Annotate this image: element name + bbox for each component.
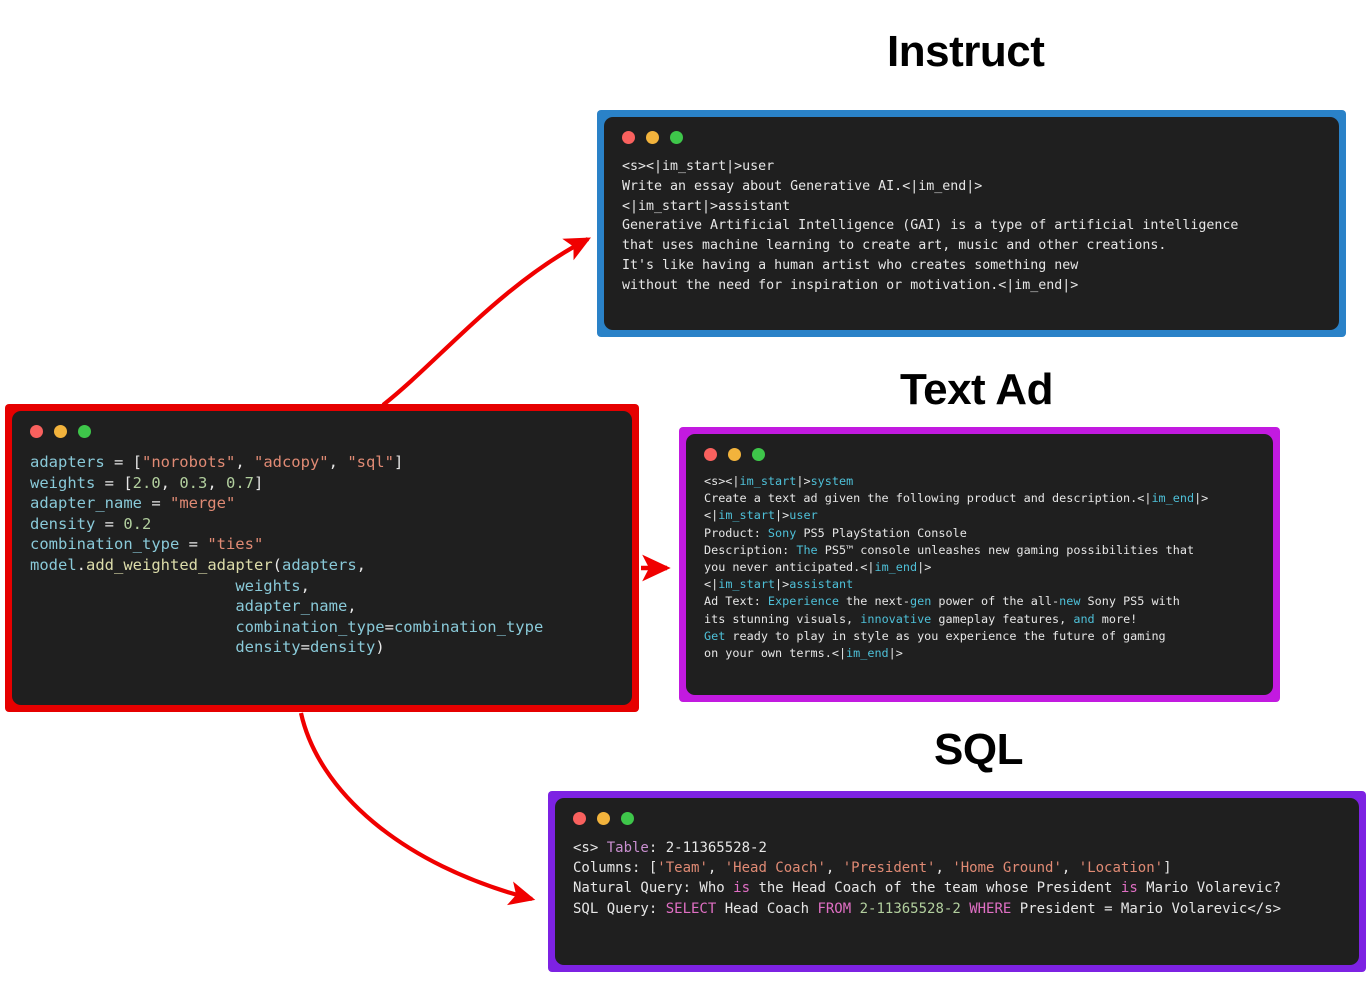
code-token: and — [1073, 612, 1094, 626]
code-line: <s><|im_start|>system — [704, 473, 1255, 490]
code-token — [851, 901, 859, 917]
code-token: ready to play in style as you experience… — [725, 629, 1165, 643]
code-token: system — [811, 474, 854, 488]
code-line: Generative Artificial Intelligence (GAI)… — [622, 216, 1321, 236]
code-token: . — [77, 556, 86, 574]
maximize-dot-icon[interactable] — [752, 448, 765, 461]
code-token: Generative Artificial Intelligence (GAI)… — [622, 218, 1238, 233]
code-line: on your own terms.<|im_end|> — [704, 645, 1255, 662]
code-token — [30, 618, 235, 636]
code-token: 'Team' — [657, 860, 708, 876]
code-token: , — [708, 860, 725, 876]
code-line: density=density) — [30, 637, 614, 658]
code-token: density — [235, 638, 300, 656]
close-dot-icon[interactable] — [622, 131, 635, 144]
code-token: "sql" — [347, 453, 394, 471]
terminal-window-text-ad: <s><|im_start|>systemCreate a text ad gi… — [679, 427, 1280, 702]
code-token: , — [301, 577, 310, 595]
panel-title-sql: SQL — [934, 725, 1023, 775]
minimize-dot-icon[interactable] — [646, 131, 659, 144]
code-token: , — [1062, 860, 1079, 876]
code-token: assistant — [789, 577, 853, 591]
maximize-dot-icon[interactable] — [670, 131, 683, 144]
code-block-text-ad: <s><|im_start|>systemCreate a text ad gi… — [704, 473, 1255, 662]
code-token: combination_type — [30, 535, 179, 553]
code-line: adapter_name = "merge" — [30, 493, 614, 514]
code-token: without the need for inspiration or moti… — [622, 278, 1078, 293]
terminal-body-text-ad: <s><|im_start|>systemCreate a text ad gi… — [686, 434, 1273, 695]
code-token: |> — [1194, 491, 1208, 505]
code-line: adapters = ["norobots", "adcopy", "sql"] — [30, 452, 614, 473]
code-token: = — [301, 638, 310, 656]
code-token: = — [385, 618, 394, 636]
code-token: density — [30, 515, 95, 533]
code-token: <s><| — [704, 474, 740, 488]
code-token: add_weighted_adapter — [86, 556, 273, 574]
code-line: <|im_start|>assistant — [622, 197, 1321, 217]
terminal-body-sql: <s> Table: 2-11365528-2Columns: ['Team',… — [555, 798, 1359, 965]
code-line: Description: The PS5™ console unleashes … — [704, 542, 1255, 559]
code-token: 'President' — [843, 860, 936, 876]
code-line: model.add_weighted_adapter(adapters, — [30, 555, 614, 576]
code-token: 'Location' — [1079, 860, 1163, 876]
code-token: user — [789, 508, 817, 522]
code-token: PS5 PlayStation Console — [796, 526, 966, 540]
code-block-merge: adapters = ["norobots", "adcopy", "sql"]… — [30, 452, 614, 658]
code-token: is — [733, 880, 750, 896]
code-token: , — [347, 597, 356, 615]
code-line: without the need for inspiration or moti… — [622, 276, 1321, 296]
code-token: power of the all- — [931, 594, 1059, 608]
code-token: "adcopy" — [254, 453, 329, 471]
code-token: Columns: [ — [573, 860, 657, 876]
code-token: weights — [235, 577, 300, 595]
code-token: PS5™ console unleashes new gaming possib… — [818, 543, 1194, 557]
code-token — [30, 597, 235, 615]
code-token: Sony — [768, 526, 796, 540]
code-token: <| — [704, 508, 718, 522]
code-token: 2.0 — [133, 474, 161, 492]
code-token: Table — [607, 840, 649, 856]
code-token: 'Head Coach' — [725, 860, 826, 876]
code-token: , — [161, 474, 180, 492]
code-line: weights = [2.0, 0.3, 0.7] — [30, 473, 614, 494]
code-token: more! — [1095, 612, 1138, 626]
minimize-dot-icon[interactable] — [728, 448, 741, 461]
code-token: im_end — [874, 560, 917, 574]
code-token: Description: — [704, 543, 796, 557]
code-token: gen — [910, 594, 931, 608]
code-token: , — [329, 453, 348, 471]
code-token: WHERE — [969, 901, 1011, 917]
code-token: SQL Query: — [573, 901, 666, 917]
code-token: "norobots" — [142, 453, 235, 471]
window-controls-sql — [573, 812, 1341, 825]
code-token: that uses machine learning to create art… — [622, 238, 1166, 253]
code-token: = [ — [105, 453, 142, 471]
maximize-dot-icon[interactable] — [621, 812, 634, 825]
maximize-dot-icon[interactable] — [78, 425, 91, 438]
window-controls-text-ad — [704, 448, 1255, 461]
code-line: It's like having a human artist who crea… — [622, 256, 1321, 276]
code-token: density — [310, 638, 375, 656]
code-token — [30, 638, 235, 656]
code-line: SQL Query: SELECT Head Coach FROM 2-1136… — [573, 899, 1341, 919]
code-token — [30, 577, 235, 595]
code-line: Create a text ad given the following pro… — [704, 490, 1255, 507]
code-token: <s><|im_start|>user — [622, 159, 774, 174]
code-token: Create a text ad given the following pro… — [704, 491, 1151, 505]
close-dot-icon[interactable] — [704, 448, 717, 461]
minimize-dot-icon[interactable] — [597, 812, 610, 825]
code-token: Get — [704, 629, 725, 643]
code-line: combination_type = "ties" — [30, 534, 614, 555]
terminal-body-instruct: <s><|im_start|>userWrite an essay about … — [604, 117, 1339, 330]
code-token: 0.3 — [179, 474, 207, 492]
code-token: , — [235, 453, 254, 471]
code-line: Columns: ['Team', 'Head Coach', 'Preside… — [573, 858, 1341, 878]
code-token: = — [95, 515, 123, 533]
code-token: , — [357, 556, 366, 574]
code-token: model — [30, 556, 77, 574]
window-controls-instruct — [622, 131, 1321, 144]
code-token: , — [207, 474, 226, 492]
code-token: |> — [917, 560, 931, 574]
code-token: im_start — [740, 474, 797, 488]
code-block-sql: <s> Table: 2-11365528-2Columns: ['Team',… — [573, 838, 1341, 919]
code-line: <|im_start|>user — [704, 507, 1255, 524]
code-token: adapters — [30, 453, 105, 471]
terminal-window-instruct: <s><|im_start|>userWrite an essay about … — [597, 110, 1346, 337]
panel-title-text-ad: Text Ad — [900, 365, 1053, 415]
code-token: FROM — [817, 901, 851, 917]
code-token: |> — [775, 577, 789, 591]
arrow-merge-to-instruct — [383, 239, 588, 405]
code-token: The — [796, 543, 817, 557]
code-line: you never anticipated.<|im_end|> — [704, 559, 1255, 576]
terminal-window-merge: adapters = ["norobots", "adcopy", "sql"]… — [5, 404, 639, 712]
code-block-instruct: <s><|im_start|>userWrite an essay about … — [622, 157, 1321, 296]
code-token: the Head Coach of the team whose Preside… — [750, 880, 1121, 896]
terminal-window-sql: <s> Table: 2-11365528-2Columns: ['Team',… — [548, 791, 1366, 972]
code-token: adapters — [282, 556, 357, 574]
code-line: Natural Query: Who is the Head Coach of … — [573, 878, 1341, 898]
code-line: that uses machine learning to create art… — [622, 236, 1321, 256]
code-token: SELECT — [666, 901, 717, 917]
code-token: ( — [273, 556, 282, 574]
code-token: Natural Query: Who — [573, 880, 733, 896]
code-token: 2-11365528-2 — [860, 901, 961, 917]
code-token: the next- — [839, 594, 910, 608]
code-token: = — [179, 535, 207, 553]
code-token: is — [1121, 880, 1138, 896]
code-token: 0.7 — [226, 474, 254, 492]
code-token: <s> — [573, 840, 607, 856]
code-token: 0.2 — [123, 515, 151, 533]
code-token: im_start — [718, 508, 775, 522]
code-line: weights, — [30, 576, 614, 597]
code-token: innovative — [860, 612, 931, 626]
code-token: It's like having a human artist who crea… — [622, 258, 1078, 273]
code-token: im_end — [846, 646, 889, 660]
code-line: its stunning visuals, innovative gamepla… — [704, 611, 1255, 628]
minimize-dot-icon[interactable] — [54, 425, 67, 438]
code-line: density = 0.2 — [30, 514, 614, 535]
code-token: <|im_start|>assistant — [622, 199, 790, 214]
code-line: <s><|im_start|>user — [622, 157, 1321, 177]
code-token: gameplay features, — [931, 612, 1073, 626]
terminal-body-merge: adapters = ["norobots", "adcopy", "sql"]… — [12, 411, 632, 705]
code-token: Sony PS5 with — [1080, 594, 1179, 608]
code-token: you never anticipated.<| — [704, 560, 874, 574]
code-token: adapter_name — [235, 597, 347, 615]
code-token: = [ — [95, 474, 132, 492]
code-token: ] — [254, 474, 263, 492]
code-line: <s> Table: 2-11365528-2 — [573, 838, 1341, 858]
code-token: |> — [889, 646, 903, 660]
code-token: |> — [796, 474, 810, 488]
code-token: |> — [775, 508, 789, 522]
close-dot-icon[interactable] — [30, 425, 43, 438]
code-token: combination_type — [394, 618, 543, 636]
code-token: ] — [1163, 860, 1171, 876]
code-token: , — [826, 860, 843, 876]
code-token: ] — [394, 453, 403, 471]
code-token: , — [935, 860, 952, 876]
code-token: = — [142, 494, 170, 512]
code-line: Product: Sony PS5 PlayStation Console — [704, 525, 1255, 542]
code-line: combination_type=combination_type — [30, 617, 614, 638]
code-token: Mario Volarevic? — [1138, 880, 1281, 896]
code-token: Experience — [768, 594, 839, 608]
code-token: : 2-11365528-2 — [649, 840, 767, 856]
code-token: on your own terms.<| — [704, 646, 846, 660]
window-controls-merge — [30, 425, 614, 438]
code-token: its stunning visuals, — [704, 612, 860, 626]
code-token: Head Coach — [716, 901, 817, 917]
code-line: Get ready to play in style as you experi… — [704, 628, 1255, 645]
code-token: Ad Text: — [704, 594, 768, 608]
code-line: Ad Text: Experience the next-gen power o… — [704, 593, 1255, 610]
code-token: im_end — [1151, 491, 1194, 505]
code-token: weights — [30, 474, 95, 492]
code-token — [961, 901, 969, 917]
code-token: Write an essay about Generative AI.<|im_… — [622, 179, 982, 194]
code-line: <|im_start|>assistant — [704, 576, 1255, 593]
code-token: ) — [375, 638, 384, 656]
code-token: combination_type — [235, 618, 384, 636]
code-token: adapter_name — [30, 494, 142, 512]
code-line: adapter_name, — [30, 596, 614, 617]
code-token: 'Home Ground' — [952, 860, 1062, 876]
panel-title-instruct: Instruct — [887, 27, 1044, 77]
code-token: President = Mario Volarevic</s> — [1011, 901, 1281, 917]
code-token: im_start — [718, 577, 775, 591]
arrow-merge-to-sql — [301, 713, 532, 899]
code-line: Write an essay about Generative AI.<|im_… — [622, 177, 1321, 197]
code-token: "merge" — [170, 494, 235, 512]
close-dot-icon[interactable] — [573, 812, 586, 825]
code-token: <| — [704, 577, 718, 591]
code-token: "ties" — [207, 535, 263, 553]
code-token: Product: — [704, 526, 768, 540]
code-token: new — [1059, 594, 1080, 608]
